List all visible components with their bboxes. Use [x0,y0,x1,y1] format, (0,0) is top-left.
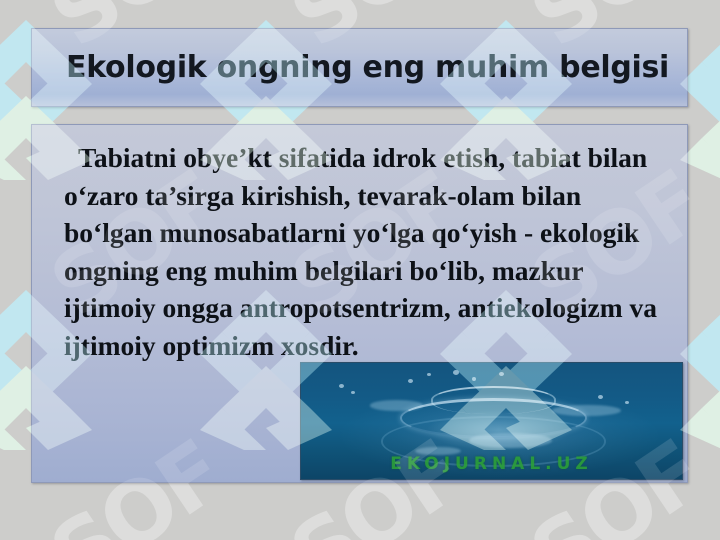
droplet [453,370,459,375]
water-splash-image: EKOJURNAL.UZ [300,362,683,480]
droplet [408,379,413,383]
photo-watermark-text: EKOJURNAL.UZ [301,454,682,474]
droplet [598,395,603,399]
page-title: Ekologik ongning eng muhim belgisi [32,50,669,85]
droplet [339,384,344,388]
slide-canvas: SOFSOFSOFSOFSOFSOFSOFSOFSOFSOFSOFSOF Eko… [0,0,720,540]
slide-title-box: Ekologik ongning eng muhim belgisi [31,28,688,107]
droplet [499,372,504,376]
droplet [625,401,629,404]
water-highlight [552,405,621,417]
splash-crown [431,386,557,414]
slide-body-text: Tabiatni obye’kt sifatida idrok etish, t… [32,125,687,364]
droplet [351,391,355,394]
droplet [427,373,431,376]
water-highlight [469,433,553,448]
droplet [472,377,476,381]
water-highlight [370,400,423,410]
